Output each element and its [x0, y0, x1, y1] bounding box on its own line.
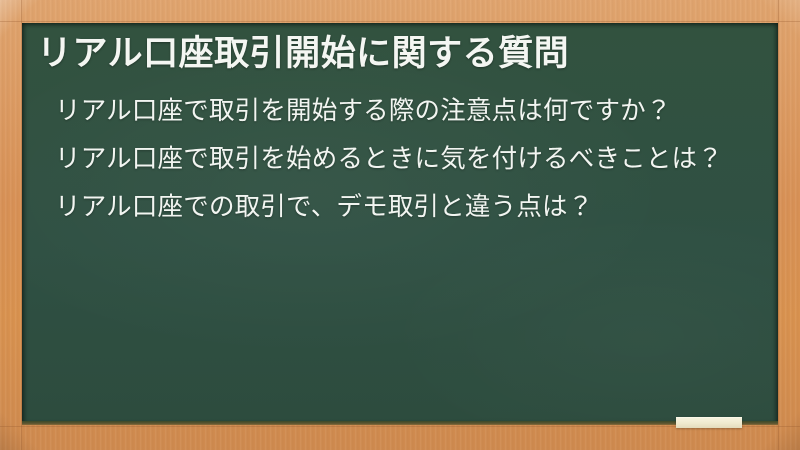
question-list: リアル口座で取引を開始する際の注意点は何ですか？ リアル口座で取引を始めるときに…: [37, 91, 760, 227]
list-item: リアル口座で取引を開始する際の注意点は何ですか？: [55, 91, 745, 131]
frame-seam-top: [0, 21, 800, 22]
slide-content: リアル口座取引開始に関する質問 リアル口座で取引を開始する際の注意点は何ですか？…: [22, 23, 778, 425]
frame-seam-right: [778, 0, 779, 450]
list-item: リアル口座で取引を始めるときに気を付けるべきことは？: [55, 139, 745, 179]
list-item: リアル口座での取引で、デモ取引と違う点は？: [55, 187, 745, 227]
chalk-eraser: [676, 417, 742, 428]
chalkboard-slide: リアル口座取引開始に関する質問 リアル口座で取引を開始する際の注意点は何ですか？…: [0, 0, 800, 450]
page-title: リアル口座取引開始に関する質問: [37, 31, 760, 77]
